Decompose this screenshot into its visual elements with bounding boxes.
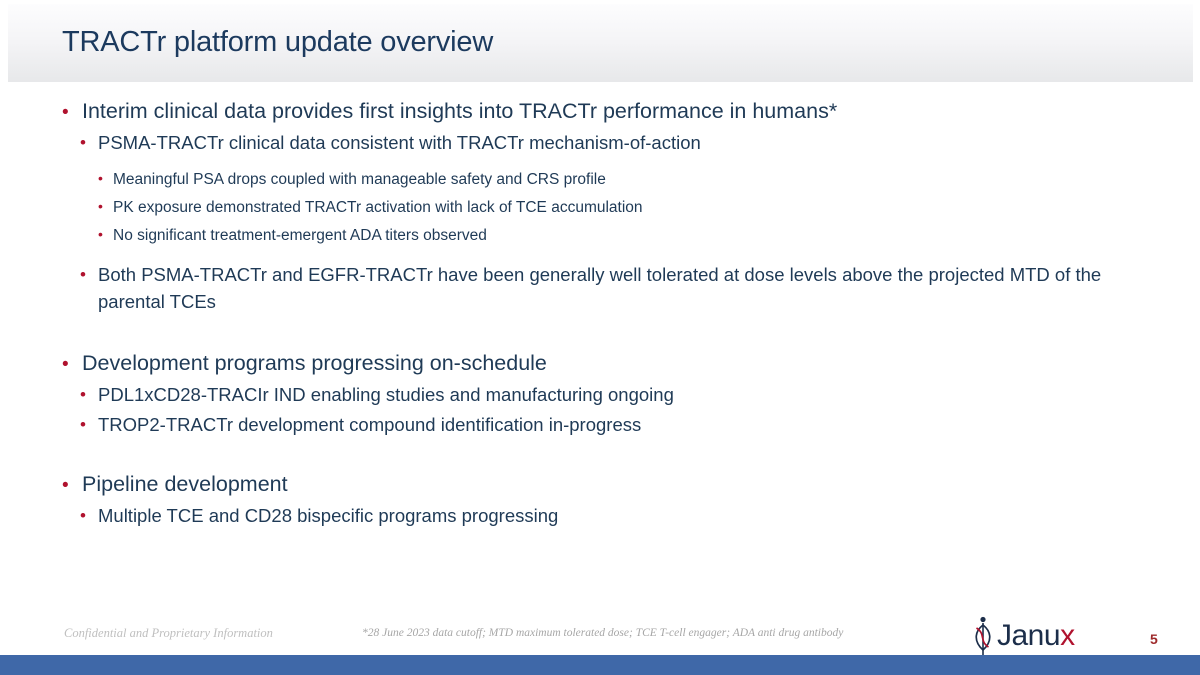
page-title: TRACTr platform update overview	[62, 26, 493, 59]
bullet-dot-icon: •	[98, 199, 103, 213]
footnote-text: *28 June 2023 data cutoff; MTD maximum t…	[362, 627, 843, 639]
bullet-level1: • Development programs progressing on-sc…	[62, 348, 1200, 379]
bullet-level3: • PK exposure demonstrated TRACTr activa…	[98, 196, 1200, 219]
bullet-level2-text: Both PSMA-TRACTr and EGFR-TRACTr have be…	[80, 261, 1140, 315]
bullet-dot-icon: •	[80, 507, 86, 524]
bullet-dot-icon: •	[62, 476, 69, 495]
bullet-level1: • Pipeline development	[62, 469, 1200, 500]
bullet-level3: • Meaningful PSA drops coupled with mana…	[98, 168, 1200, 191]
bullet-dot-icon: •	[62, 103, 69, 122]
bullet-level3: • No significant treatment-emergent ADA …	[98, 224, 1200, 247]
confidential-notice: Confidential and Proprietary Information	[64, 626, 273, 641]
bullet-level2-text: PSMA-TRACTr clinical data consistent wit…	[80, 129, 1140, 156]
bullet-level2: • Multiple TCE and CD28 bispecific progr…	[80, 502, 1200, 529]
bullet-level1-text: Pipeline development	[62, 469, 1200, 500]
bullet-dot-icon: •	[80, 386, 86, 403]
bottom-accent-band	[0, 655, 1200, 675]
bullet-level1-text: Interim clinical data provides first ins…	[62, 96, 1200, 127]
slide: TRACTr platform update overview • Interi…	[0, 0, 1200, 675]
bullet-dot-icon: •	[80, 134, 86, 151]
bullet-dot-icon: •	[62, 355, 69, 374]
janux-wordmark-main: Janu	[997, 619, 1060, 652]
bullet-level1: • Interim clinical data provides first i…	[62, 96, 1200, 127]
bullet-level2-text: Multiple TCE and CD28 bispecific program…	[80, 502, 1140, 529]
bullet-level2: • PDL1xCD28-TRACIr IND enabling studies …	[80, 381, 1200, 408]
bullet-level3-text: Meaningful PSA drops coupled with manage…	[98, 168, 1200, 191]
bullet-level2: • TROP2-TRACTr development compound iden…	[80, 411, 1200, 438]
bullet-level3-text: No significant treatment-emergent ADA ti…	[98, 224, 1200, 247]
janux-wordmark-x: x	[1060, 619, 1075, 652]
bullet-level2-text: PDL1xCD28-TRACIr IND enabling studies an…	[80, 381, 1140, 408]
spacer	[0, 159, 1200, 168]
bullet-dot-icon: •	[98, 171, 103, 185]
bullet-level3-text: PK exposure demonstrated TRACTr activati…	[98, 196, 1200, 219]
spacer	[0, 252, 1200, 261]
bullet-level1-text: Development programs progressing on-sche…	[62, 348, 1200, 379]
bullet-dot-icon: •	[80, 266, 86, 283]
bullet-level2: • PSMA-TRACTr clinical data consistent w…	[80, 129, 1200, 156]
janux-logo: Janux	[966, 614, 1096, 658]
bullet-dot-icon: •	[80, 416, 86, 433]
bullet-dot-icon: •	[98, 227, 103, 241]
janux-wordmark: Janux	[997, 621, 1075, 651]
spacer	[0, 441, 1200, 469]
page-number: 5	[1150, 631, 1158, 647]
spacer	[0, 318, 1200, 348]
bullet-level2-text: TROP2-TRACTr development compound identi…	[80, 411, 1140, 438]
slide-footer: Confidential and Proprietary Information…	[0, 612, 1200, 657]
bullet-level2: • Both PSMA-TRACTr and EGFR-TRACTr have …	[80, 261, 1200, 315]
slide-body: • Interim clinical data provides first i…	[0, 96, 1200, 596]
